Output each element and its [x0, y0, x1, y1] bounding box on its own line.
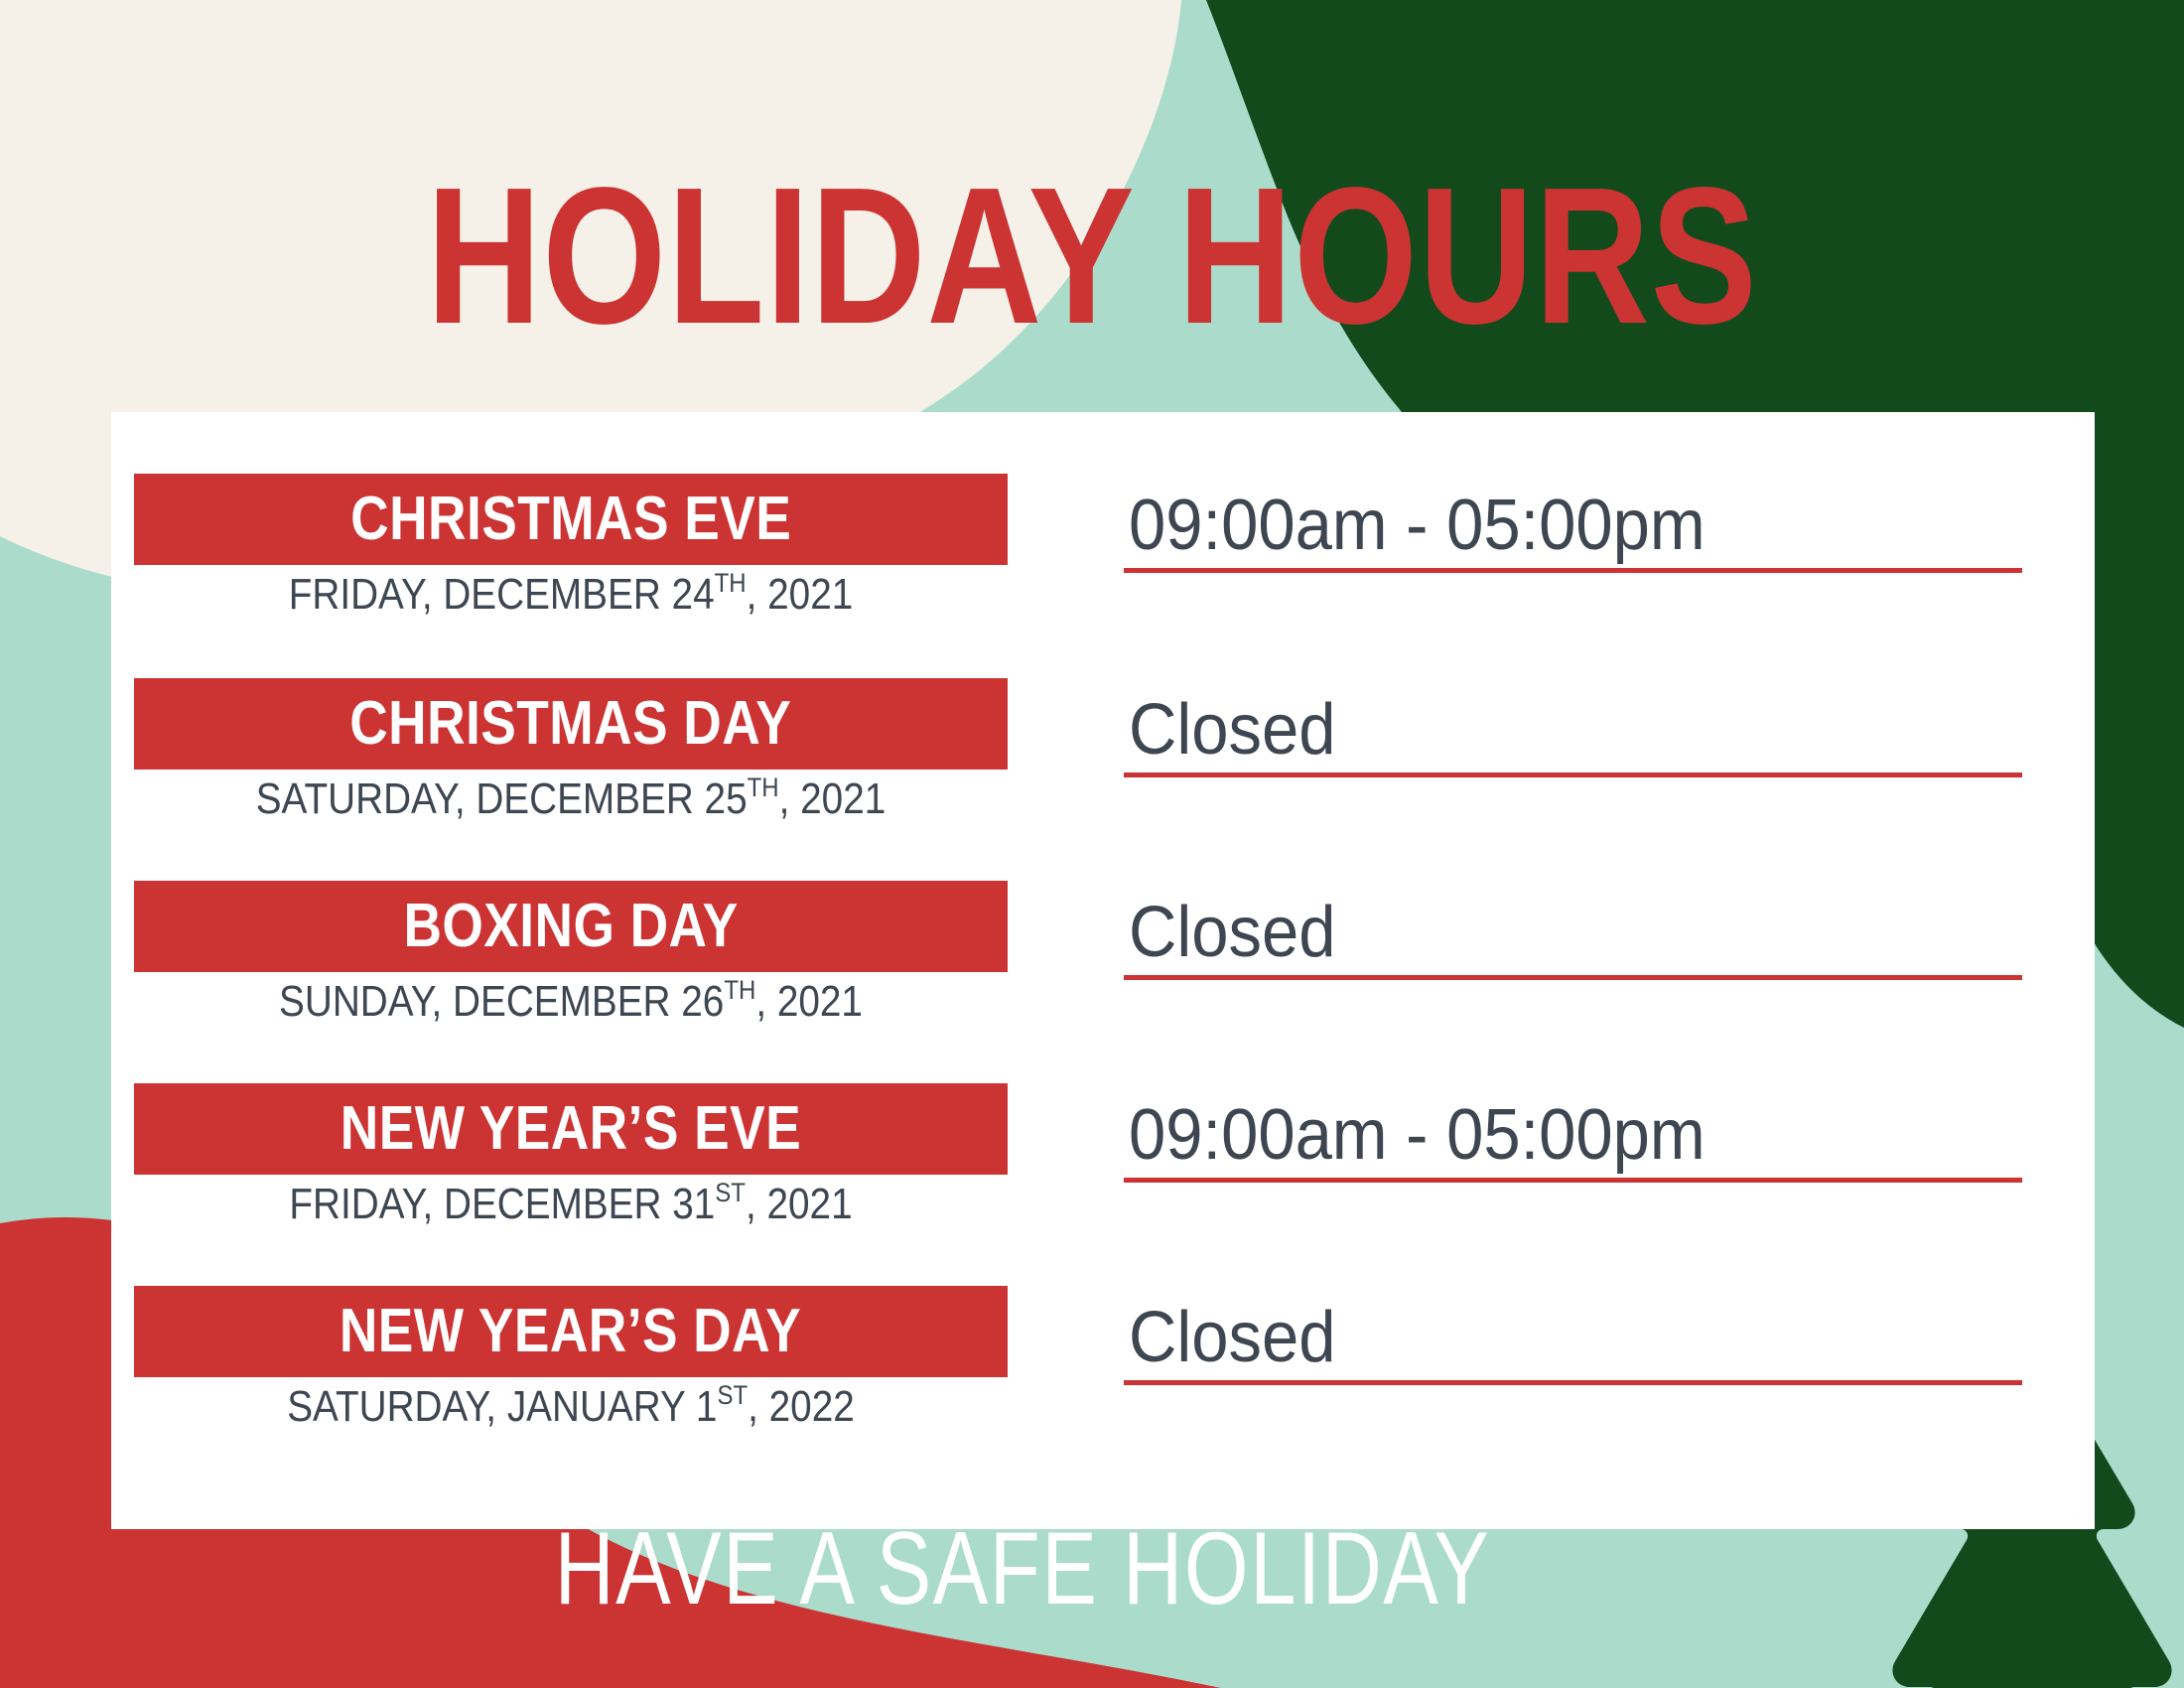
date-ordinal: TH — [748, 772, 779, 802]
date-suffix: , 2021 — [746, 1180, 853, 1228]
holiday-name: CHRISTMAS EVE — [350, 489, 791, 550]
date-prefix: FRIDAY, DECEMBER 24 — [289, 570, 715, 619]
hours-underline — [1124, 975, 2022, 980]
holiday-hours-cell: 09:00am - 05:00pm — [1124, 1067, 2022, 1183]
date-suffix: , 2021 — [779, 774, 887, 823]
holiday-hours-cell: Closed — [1124, 662, 2022, 777]
date-prefix: FRIDAY, DECEMBER 31 — [289, 1180, 715, 1228]
holiday-name-banner: CHRISTMAS EVE — [134, 474, 1008, 565]
holiday-name: CHRISTMAS DAY — [349, 693, 791, 755]
holiday-date: FRIDAY, DECEMBER 24TH, 2021 — [187, 573, 955, 617]
page-title: HOLIDAY HOURS — [197, 159, 1987, 353]
date-ordinal: ST — [717, 1379, 748, 1410]
hours-underline — [1124, 773, 2022, 777]
holiday-name-banner: BOXING DAY — [134, 881, 1008, 972]
date-prefix: SATURDAY, JANUARY 1 — [287, 1382, 717, 1431]
holiday-hours: 09:00am - 05:00pm — [1129, 490, 1706, 561]
schedule-row: CHRISTMAS EVE FRIDAY, DECEMBER 24TH, 202… — [111, 474, 2095, 670]
holiday-hours: Closed — [1129, 1302, 1335, 1373]
holiday-name-banner: NEW YEAR’S EVE — [134, 1083, 1008, 1175]
date-prefix: SUNDAY, DECEMBER 26 — [279, 977, 724, 1026]
holiday-name: NEW YEAR’S DAY — [340, 1301, 801, 1362]
hours-underline — [1124, 568, 2022, 573]
holiday-hours-cell: 09:00am - 05:00pm — [1124, 458, 2022, 573]
schedule-card: CHRISTMAS EVE FRIDAY, DECEMBER 24TH, 202… — [111, 412, 2095, 1529]
holiday-hours: Closed — [1129, 694, 1335, 766]
date-suffix: , 2021 — [755, 977, 863, 1026]
holiday-hours-cell: Closed — [1124, 865, 2022, 980]
date-ordinal: TH — [715, 567, 747, 598]
holiday-date: SATURDAY, JANUARY 1ST, 2022 — [187, 1385, 955, 1429]
holiday-hours-cell: Closed — [1124, 1270, 2022, 1385]
holiday-date: SUNDAY, DECEMBER 26TH, 2021 — [187, 980, 955, 1024]
date-suffix: , 2021 — [747, 570, 854, 619]
schedule-row: BOXING DAY SUNDAY, DECEMBER 26TH, 2021 C… — [111, 881, 2095, 1077]
hours-underline — [1124, 1380, 2022, 1385]
holiday-name: NEW YEAR’S EVE — [341, 1098, 801, 1160]
date-prefix: SATURDAY, DECEMBER 25 — [256, 774, 748, 823]
holiday-date: SATURDAY, DECEMBER 25TH, 2021 — [187, 777, 955, 821]
date-ordinal: TH — [724, 974, 755, 1005]
holiday-hours: 09:00am - 05:00pm — [1129, 1099, 1706, 1171]
footer-message: HAVE A SAFE HOLIDAY — [205, 1517, 1841, 1620]
hours-underline — [1124, 1178, 2022, 1183]
date-ordinal: ST — [715, 1177, 746, 1207]
schedule-row: NEW YEAR’S DAY SATURDAY, JANUARY 1ST, 20… — [111, 1286, 2095, 1482]
holiday-hours-poster: HOLIDAY HOURS CHRISTMAS EVE FRIDAY, DECE… — [0, 0, 2184, 1688]
schedule-row: CHRISTMAS DAY SATURDAY, DECEMBER 25TH, 2… — [111, 678, 2095, 875]
holiday-name-banner: CHRISTMAS DAY — [134, 678, 1008, 770]
holiday-name: BOXING DAY — [403, 896, 738, 957]
holiday-name-banner: NEW YEAR’S DAY — [134, 1286, 1008, 1377]
holiday-date: FRIDAY, DECEMBER 31ST, 2021 — [187, 1183, 955, 1226]
date-suffix: , 2022 — [748, 1382, 855, 1431]
holiday-hours: Closed — [1129, 897, 1335, 968]
schedule-row: NEW YEAR’S EVE FRIDAY, DECEMBER 31ST, 20… — [111, 1083, 2095, 1280]
